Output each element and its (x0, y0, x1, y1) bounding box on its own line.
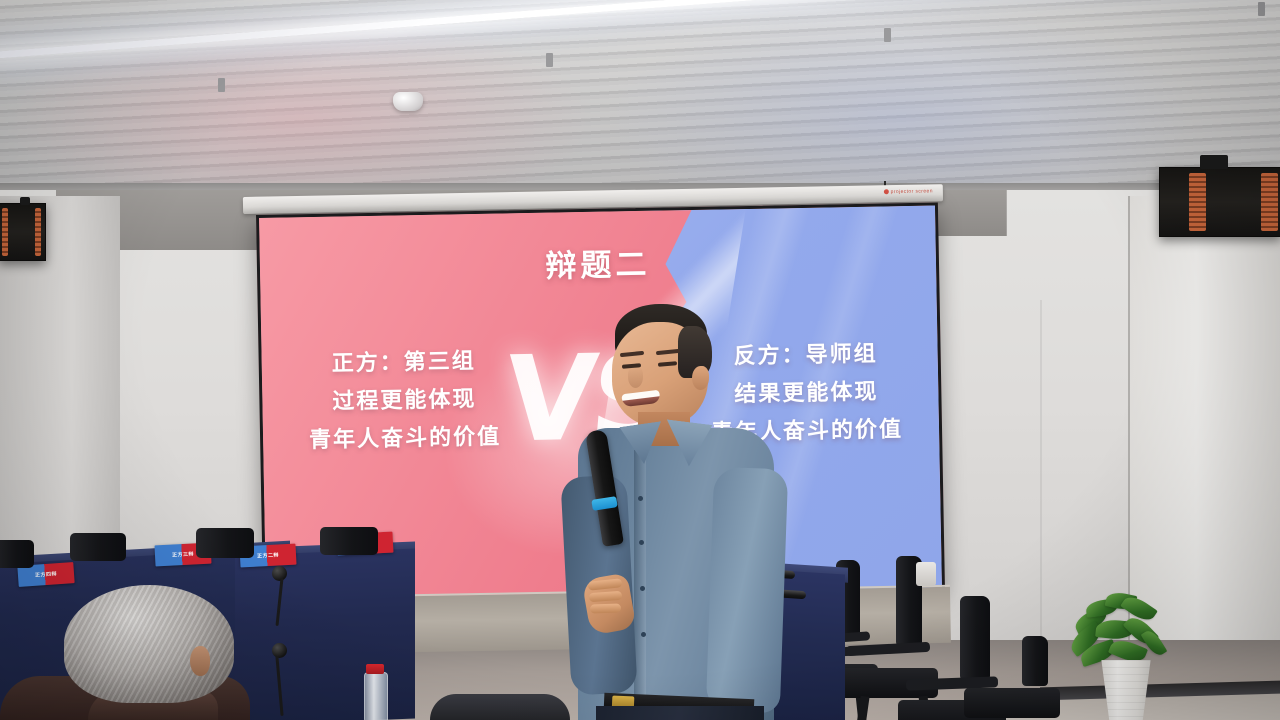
presenter-ear (692, 366, 709, 390)
presenter-trousers (596, 706, 764, 720)
table-mid-skirt (235, 549, 415, 720)
photo-scene: projector screen VS 辩题二 正方：第三组 过程更能体现 青年… (0, 0, 1280, 720)
gooseneck-microphone (272, 643, 287, 658)
seated-attendee-second (430, 694, 570, 720)
led-clip (546, 53, 553, 67)
wall-seam (1040, 300, 1042, 690)
screen-brand-logo: projector screen (884, 188, 933, 195)
ceiling-smoke-detector-icon (393, 92, 423, 111)
speaker-grille-icon (35, 208, 41, 255)
screen-brand-text: projector screen (891, 188, 933, 195)
led-clip (1258, 2, 1265, 16)
led-clip (218, 78, 225, 92)
chair-backrest (196, 528, 254, 558)
speaker-grille-icon (1189, 173, 1206, 230)
wall-speaker-left (0, 203, 46, 261)
speaker-grille-icon (1261, 173, 1278, 230)
wall-right-column (1128, 196, 1280, 656)
chair-backrest (0, 540, 34, 568)
attendee-hair-texture (64, 585, 234, 703)
wall-outlet-icon (916, 562, 936, 586)
ceiling (0, 0, 1280, 196)
speaker-grille-icon (2, 208, 8, 255)
led-clip (884, 28, 891, 42)
presenter (560, 300, 790, 720)
speaker-mount (1200, 155, 1228, 169)
water-bottle (364, 672, 388, 720)
speaker-mount (20, 197, 30, 205)
attendee-ear (190, 646, 210, 676)
ceiling-light-wash (0, 0, 1280, 196)
chair-backrest (70, 533, 126, 561)
chair-backrest (320, 527, 378, 555)
presenter-right-arm (706, 467, 788, 713)
wall-speaker-right (1159, 167, 1280, 237)
bottle-cap (366, 664, 384, 674)
